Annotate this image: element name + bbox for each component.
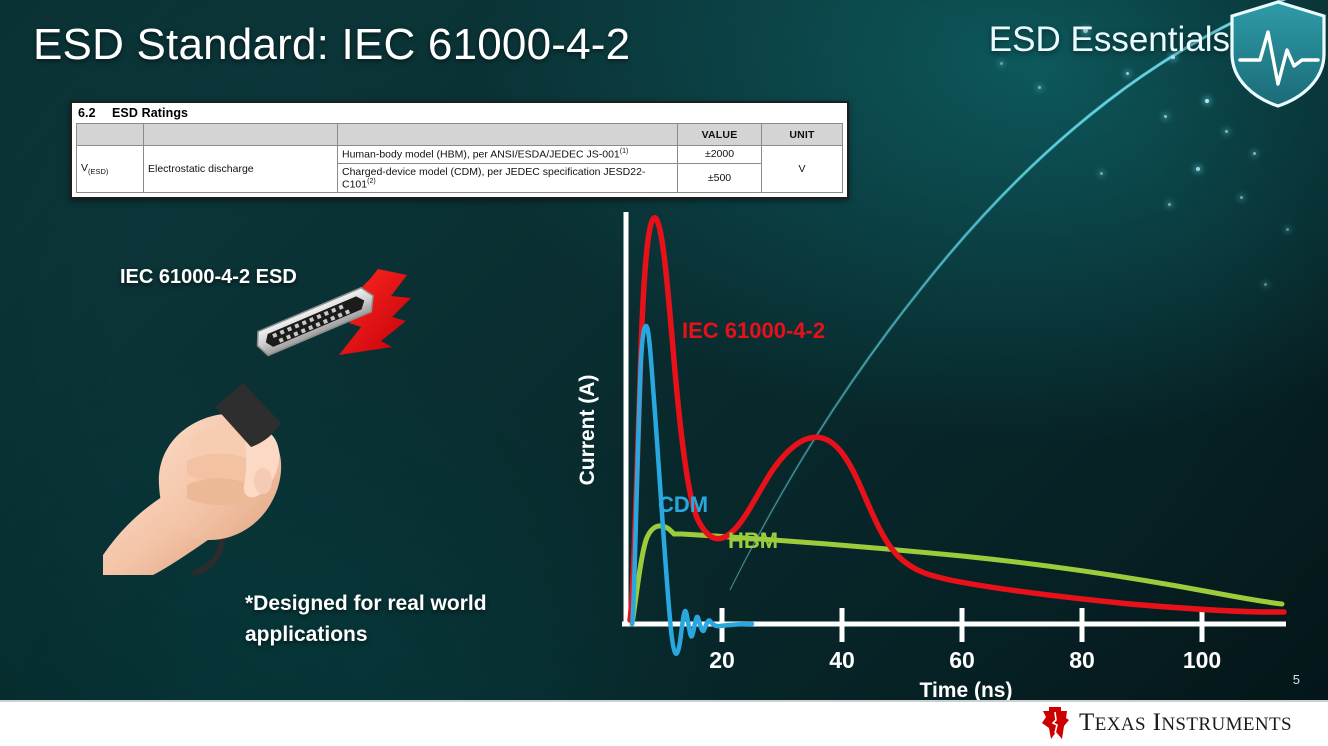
annotation-hbm: HBM <box>728 528 778 553</box>
chart-axes <box>622 212 1286 642</box>
ti-logo: TEXAS INSTRUMENTS <box>1040 706 1292 740</box>
annotation-cdm: CDM <box>658 492 708 517</box>
table-header-row: VALUE UNIT <box>77 124 843 146</box>
x-tick-label: 60 <box>949 647 975 673</box>
symbol-subscript: (ESD) <box>88 167 108 176</box>
hand-holding-connector-icon <box>95 255 435 575</box>
ratings-grid: VALUE UNIT V(ESD) Electrostatic discharg… <box>76 123 843 193</box>
series-iec <box>630 218 1284 620</box>
y-axis-title: Current (A) <box>576 375 599 486</box>
x-tick-label: 40 <box>829 647 855 673</box>
x-axis-title: Time (ns) <box>920 679 1013 700</box>
finger <box>187 454 255 483</box>
header-symbol <box>77 124 144 146</box>
esd-ratings-table: 6.2ESD Ratings VALUE UNIT V(ESD) Electro… <box>70 101 849 199</box>
symbol-text: V <box>81 162 88 174</box>
cell-symbol: V(ESD) <box>77 146 144 193</box>
cell-condition-cdm: Charged-device model (CDM), per JEDEC sp… <box>338 163 678 193</box>
x-tick-label: 20 <box>709 647 735 673</box>
cell-condition-hbm: Human-body model (HBM), per ANSI/ESDA/JE… <box>338 146 678 164</box>
page-title: ESD Standard: IEC 61000-4-2 <box>33 20 630 70</box>
cell-value-hbm: ±2000 <box>678 146 762 164</box>
ti-wordmark: TEXAS INSTRUMENTS <box>1079 709 1292 737</box>
table-section-title: ESD Ratings <box>112 106 188 120</box>
header-value: VALUE <box>678 124 762 146</box>
ti-word-i: I <box>1153 709 1162 736</box>
condition-text: Charged-device model (CDM), per JEDEC sp… <box>342 166 645 191</box>
ti-texas-logo-icon <box>1040 706 1070 740</box>
ti-word-exas: EXAS <box>1095 714 1146 735</box>
table-section-number: 6.2 <box>78 106 112 120</box>
cell-parameter: Electrostatic discharge <box>144 146 338 193</box>
footnote-marker: (2) <box>367 178 376 185</box>
cell-unit: V <box>762 146 843 193</box>
header-unit: UNIT <box>762 124 843 146</box>
table-row: V(ESD) Electrostatic discharge Human-bod… <box>77 146 843 164</box>
header-parameter <box>144 124 338 146</box>
brand-title: ESD Essentials <box>989 20 1230 60</box>
note-text: *Designed for real world applications <box>245 588 575 650</box>
ti-word-nstruments: NSTRUMENTS <box>1161 714 1292 735</box>
header-condition <box>338 124 678 146</box>
esd-waveform-chart: IEC 61000-4-2 CDM HBM 20 40 60 80 100 Ti… <box>570 200 1310 700</box>
table-title: 6.2ESD Ratings <box>72 103 847 123</box>
thumbnail <box>254 468 272 494</box>
footnote-marker: (1) <box>620 148 629 155</box>
finger <box>187 478 252 505</box>
cell-value-cdm: ±500 <box>678 163 762 193</box>
footer-bar: TEXAS INSTRUMENTS <box>0 700 1328 746</box>
condition-text: Human-body model (HBM), per ANSI/ESDA/JE… <box>342 149 620 161</box>
annotation-iec: IEC 61000-4-2 <box>682 318 825 343</box>
shield-pulse-icon <box>1224 0 1328 110</box>
slide-root: ESD Standard: IEC 61000-4-2 ESD Essentia… <box>0 0 1328 746</box>
x-tick-label: 80 <box>1069 647 1095 673</box>
x-tick-label: 100 <box>1183 647 1221 673</box>
slide-number: 5 <box>1293 672 1300 687</box>
ti-word-t: T <box>1079 709 1095 736</box>
